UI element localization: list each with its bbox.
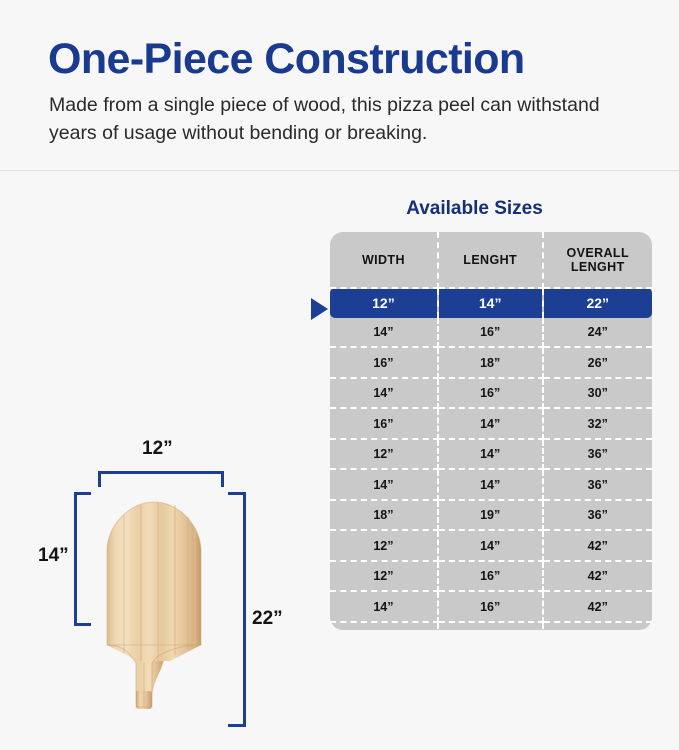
cell-overall-length: 36”: [543, 469, 653, 500]
cell-overall-length: 26”: [543, 347, 653, 378]
table-row[interactable]: 14”16”24”: [330, 318, 652, 348]
cell-overall-length: 36”: [543, 439, 653, 470]
sizes-table: WIDTH LENGHT OVERALL LENGHT 12”14”22”14”…: [330, 232, 652, 630]
cell-width: 14”: [330, 591, 438, 622]
table-row[interactable]: 12”14”42”: [330, 530, 652, 561]
cell-overall-length: 22”: [543, 288, 653, 318]
column-header-overall-length: OVERALL LENGHT: [543, 232, 653, 288]
cell-width: 16”: [330, 408, 438, 439]
cell-overall-length: 30”: [543, 378, 653, 409]
cell-width: 12”: [330, 561, 438, 592]
cell-length: 18”: [438, 622, 543, 630]
table-row[interactable]: 12”16”42”: [330, 561, 652, 592]
cell-length: 16”: [438, 561, 543, 592]
cell-overall-length: 42”: [543, 591, 653, 622]
width-dimension-bracket: [98, 471, 224, 487]
cell-overall-length: 32”: [543, 408, 653, 439]
available-sizes-panel: Available Sizes WIDTH LENGHT OVERALL LEN…: [310, 190, 679, 640]
table-header-row: WIDTH LENGHT OVERALL LENGHT: [330, 232, 652, 288]
cell-overall-length: 42”: [543, 530, 653, 561]
cell-width: 14”: [330, 469, 438, 500]
pizza-peel-image: [78, 495, 230, 750]
column-header-width: WIDTH: [330, 232, 438, 288]
cell-width: 12”: [330, 439, 438, 470]
overall-dimension-label: 22”: [252, 608, 283, 630]
cell-overall-length: 42”: [543, 622, 653, 630]
product-diagram: 12” 14” 22”: [0, 170, 310, 640]
table-row[interactable]: 18”19”36”: [330, 500, 652, 531]
cell-width: 12”: [330, 530, 438, 561]
cell-width: 16”: [330, 347, 438, 378]
table-row[interactable]: 16”18”42”: [330, 622, 652, 630]
table-row[interactable]: 12”14”22”: [330, 288, 652, 318]
height-dimension-label: 14”: [38, 545, 69, 567]
page-title: One-Piece Construction: [48, 38, 525, 81]
cell-length: 14”: [438, 469, 543, 500]
page-subtitle: Made from a single piece of wood, this p…: [49, 92, 649, 147]
cell-width: 14”: [330, 378, 438, 409]
table-row[interactable]: 12”14”36”: [330, 439, 652, 470]
cell-length: 14”: [438, 408, 543, 439]
table-row[interactable]: 16”14”32”: [330, 408, 652, 439]
cell-width: 12”: [330, 288, 438, 318]
cell-length: 14”: [438, 530, 543, 561]
width-dimension-label: 12”: [142, 438, 173, 460]
sizes-table-body: 12”14”22”14”16”24”16”18”26”14”16”30”16”1…: [330, 288, 652, 630]
cell-length: 18”: [438, 347, 543, 378]
overall-dimension-bracket: [228, 492, 246, 727]
cell-length: 19”: [438, 500, 543, 531]
cell-overall-length: 42”: [543, 561, 653, 592]
available-sizes-title: Available Sizes: [310, 198, 639, 220]
cell-length: 14”: [438, 439, 543, 470]
sizes-table-card: WIDTH LENGHT OVERALL LENGHT 12”14”22”14”…: [330, 232, 652, 630]
cell-length: 16”: [438, 378, 543, 409]
column-header-length: LENGHT: [438, 232, 543, 288]
cell-overall-length: 24”: [543, 318, 653, 348]
table-row[interactable]: 16”18”26”: [330, 347, 652, 378]
cell-length: 16”: [438, 591, 543, 622]
cell-width: 18”: [330, 500, 438, 531]
cell-width: 16”: [330, 622, 438, 630]
table-row[interactable]: 14”16”30”: [330, 378, 652, 409]
cell-length: 14”: [438, 288, 543, 318]
cell-overall-length: 36”: [543, 500, 653, 531]
cell-length: 16”: [438, 318, 543, 348]
selected-row-arrow-icon: [311, 298, 328, 320]
table-row[interactable]: 14”16”42”: [330, 591, 652, 622]
cell-width: 14”: [330, 318, 438, 348]
table-row[interactable]: 14”14”36”: [330, 469, 652, 500]
